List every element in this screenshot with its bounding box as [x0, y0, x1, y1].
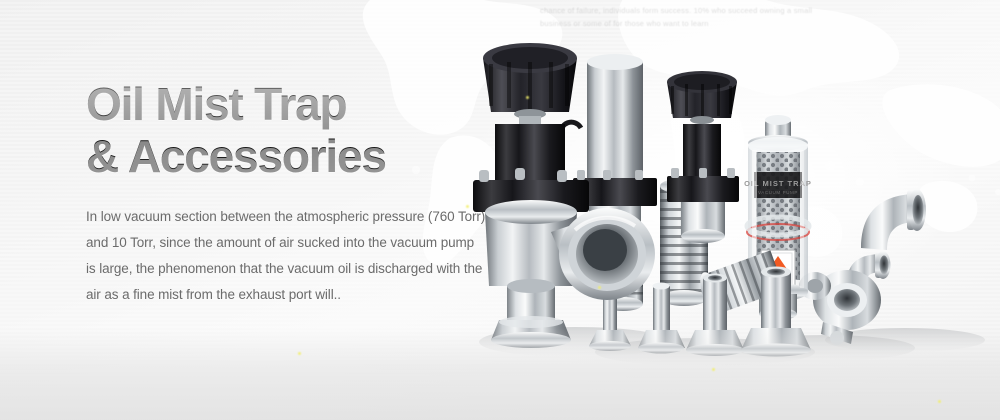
sparkle-dot: [712, 368, 715, 371]
sparkle-dot: [298, 352, 301, 355]
sparkle-dot: [598, 286, 601, 289]
sparkle-dot: [938, 400, 941, 403]
sparkle-dot: [466, 205, 469, 208]
banner-copy: Oil Mist Trap& Accessories In low vacuum…: [86, 78, 506, 308]
banner-description: In low vacuum section between the atmosp…: [86, 204, 486, 308]
page-title-line-2: & Accessories: [86, 130, 506, 182]
page-title: Oil Mist Trap& Accessories: [86, 78, 506, 182]
svg-text:VACUUM PUMP: VACUUM PUMP: [758, 190, 798, 195]
product-group-image: OIL MIST TRAP VACUUM PUMP FLOW: [455, 0, 1000, 420]
product-banner: chance of failure, individuals form succ…: [0, 0, 1000, 420]
page-title-line-1: Oil Mist Trap: [86, 78, 346, 130]
sparkle-dot: [526, 96, 529, 99]
